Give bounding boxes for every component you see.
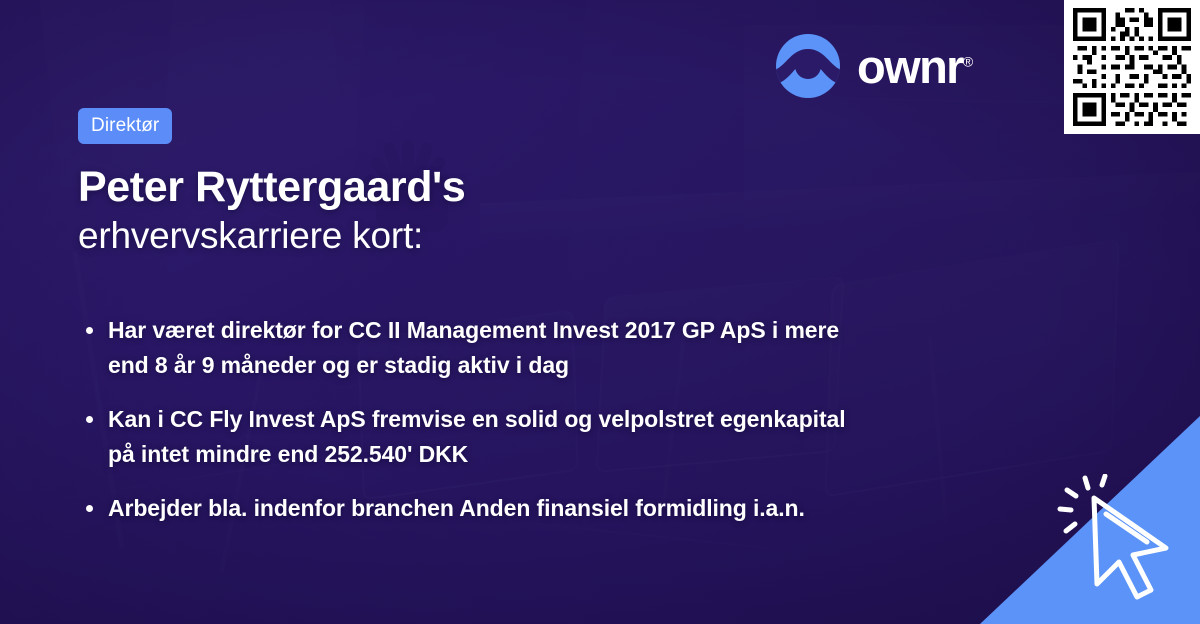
registered-trademark-icon: ® xyxy=(963,53,973,69)
role-badge: Direktør xyxy=(78,108,172,144)
page-title: Peter Ryttergaard's erhvervskarriere kor… xyxy=(78,164,938,259)
card-content: Direktør Peter Ryttergaard's erhvervskar… xyxy=(78,108,938,545)
list-item: Har været direktør for CC II Management … xyxy=(78,313,878,383)
list-item: Kan i CC Fly Invest ApS fremvise en soli… xyxy=(78,402,878,472)
page-title-line1: Peter Ryttergaard's xyxy=(78,164,938,210)
click-cursor-icon xyxy=(1054,474,1186,606)
qr-code-icon[interactable] xyxy=(1064,0,1200,134)
page-title-line2: erhvervskarriere kort: xyxy=(78,214,938,258)
facts-list: Har været direktør for CC II Management … xyxy=(78,313,938,526)
ownr-circle-swoosh-icon xyxy=(775,33,841,99)
ownr-wordmark-text: ownr xyxy=(857,40,963,93)
list-item: Arbejder bla. indenfor branchen Anden fi… xyxy=(78,491,878,526)
corner-accent xyxy=(980,416,1200,624)
ownr-logo[interactable]: ownr® xyxy=(775,33,973,99)
ownr-wordmark: ownr® xyxy=(857,43,973,90)
social-share-card: ownr® xyxy=(0,0,1200,624)
